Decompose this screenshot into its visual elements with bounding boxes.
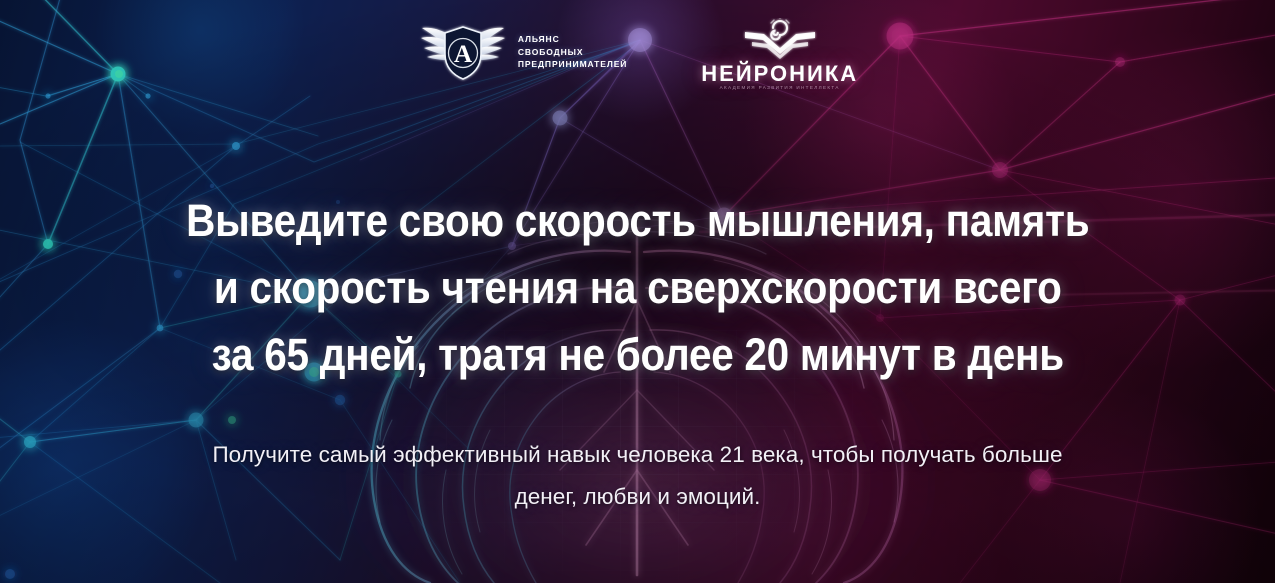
logo-neuronika-subtitle: АКАДЕМИЯ РАЗВИТИЯ ИНТЕЛЛЕКТА <box>720 86 840 91</box>
hero-subheadline-line-1: Получите самый эффективный навык человек… <box>212 434 1062 476</box>
hero-subheadline-line-2: денег, любви и эмоций. <box>212 476 1062 518</box>
logo-alliance[interactable]: A АЛЬЯНС СВОБОДНЫХ ПРЕДПРИНИМАТЕЛЕЙ <box>417 18 627 86</box>
hero-headline-line-2: и скорость чтения на сверхскорости всего <box>186 254 1089 321</box>
hero-headline-line-1: Выведите свою скорость мышления, память <box>186 187 1089 254</box>
hero-headline-line-3: за 65 дней, тратя не более 20 минут в де… <box>186 321 1089 388</box>
logo-alliance-text: АЛЬЯНС СВОБОДНЫХ ПРЕДПРИНИМАТЕЛЕЙ <box>518 34 627 70</box>
hero-subheadline: Получите самый эффективный навык человек… <box>212 434 1062 518</box>
svg-text:A: A <box>454 41 472 68</box>
open-book-spiral-icon <box>737 18 823 62</box>
logo-alliance-line-3: ПРЕДПРИНИМАТЕЛЕЙ <box>518 59 627 70</box>
hero-headline: Выведите свою скорость мышления, память … <box>186 187 1089 388</box>
logo-neuronika-name: НЕЙРОНИКА <box>701 63 858 85</box>
logo-bar: A АЛЬЯНС СВОБОДНЫХ ПРЕДПРИНИМАТЕЛЕЙ <box>417 18 858 91</box>
logo-alliance-line-1: АЛЬЯНС <box>518 34 627 45</box>
logo-alliance-line-2: СВОБОДНЫХ <box>518 47 627 58</box>
winged-shield-a-icon: A <box>417 18 509 86</box>
hero-section: A АЛЬЯНС СВОБОДНЫХ ПРЕДПРИНИМАТЕЛЕЙ <box>0 0 1275 583</box>
logo-neuronika[interactable]: НЕЙРОНИКА АКАДЕМИЯ РАЗВИТИЯ ИНТЕЛЛЕКТА <box>701 18 858 91</box>
